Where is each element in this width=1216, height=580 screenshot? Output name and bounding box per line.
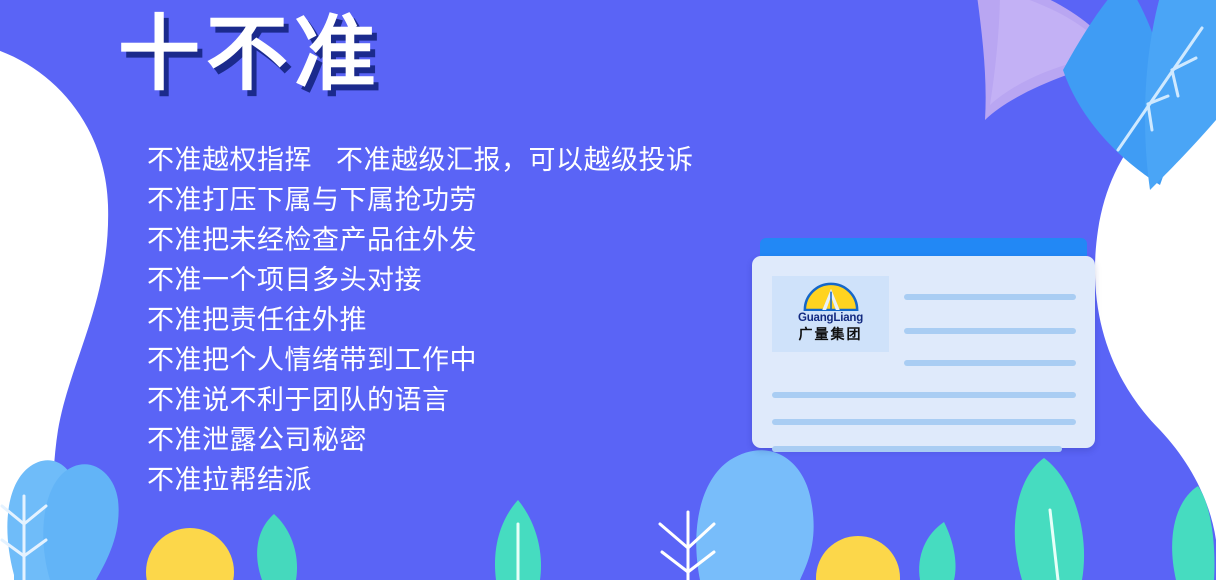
poster-canvas: 十不准 不准越权指挥 不准越级汇报，可以越级投诉 不准打压下属与下属抢功劳 不准… (0, 0, 1216, 580)
rule-item-3: 不准把未经检查产品往外发 (147, 220, 694, 260)
rule-item-2: 不准打压下属与下属抢功劳 (147, 180, 694, 220)
page-title: 十不准 (118, 14, 382, 96)
card-body: GuangLiang 广量集团 (752, 256, 1095, 448)
leaf-teal-bottom-left (257, 514, 297, 580)
placeholder-line-4 (772, 392, 1076, 398)
rule-item-1: 不准越权指挥 不准越级汇报，可以越级投诉 (147, 140, 694, 180)
logo-chinese-name: 广量集团 (799, 326, 863, 342)
dome-logo-icon (800, 280, 862, 311)
rule-item-5: 不准把责任往外推 (147, 300, 694, 340)
leaf-teal-bottom-right-large (1015, 458, 1084, 580)
rule-item-4: 不准一个项目多头对接 (147, 260, 694, 300)
leaf-teal-bottom-right-small (919, 522, 955, 580)
rule-item-7: 不准说不利于团队的语言 (147, 380, 694, 420)
company-logo-block: GuangLiang 广量集团 (772, 276, 889, 352)
placeholder-line-2 (904, 328, 1076, 334)
placeholder-line-6 (772, 446, 1062, 452)
placeholder-line-1 (904, 294, 1076, 300)
rules-list: 不准越权指挥 不准越级汇报，可以越级投诉 不准打压下属与下属抢功劳 不准把未经检… (147, 140, 694, 500)
rule-item-8: 不准泄露公司秘密 (147, 420, 694, 460)
leaf-lightblue-bottom-center (696, 450, 813, 580)
rule-item-6: 不准把个人情绪带到工作中 (147, 340, 694, 380)
circle-yellow-bottom-right (816, 536, 900, 580)
rule-item-9: 不准拉帮结派 (147, 460, 694, 500)
placeholder-line-5 (772, 419, 1076, 425)
circle-yellow-bottom-left (146, 528, 234, 580)
document-card: GuangLiang 广量集团 (752, 238, 1095, 448)
logo-english-name: GuangLiang (798, 312, 863, 325)
placeholder-line-3 (904, 360, 1076, 366)
